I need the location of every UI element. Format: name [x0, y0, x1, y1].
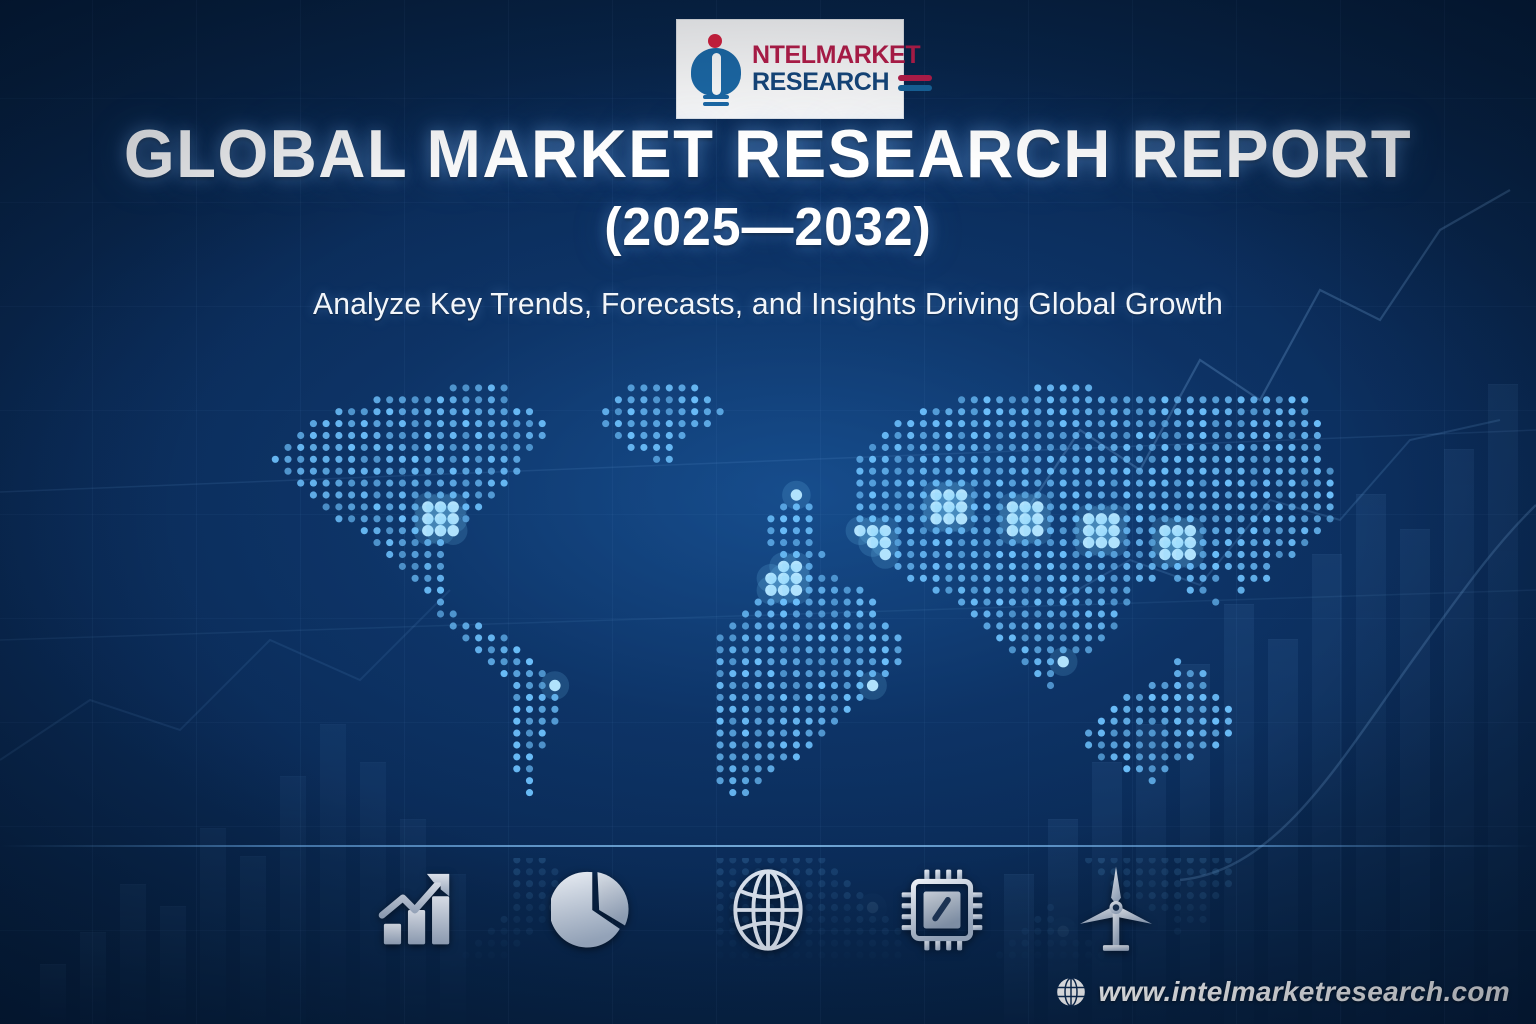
website-url[interactable]: www.intelmarketresearch.com [1098, 976, 1510, 1008]
logo-line-2: RESEARCH [752, 70, 889, 96]
globe-icon [1056, 977, 1086, 1007]
pie-chart-icon [549, 862, 639, 957]
tagline: Analyze Key Trends, Forecasts, and Insig… [23, 286, 1513, 322]
lightbulb-icon [689, 32, 745, 106]
growth-chart-icon [375, 862, 465, 957]
feature-icon-row [0, 862, 1536, 957]
wind-turbine-icon [1071, 862, 1161, 957]
microchip-icon [897, 862, 987, 957]
logo-accent-bars [898, 73, 932, 91]
company-logo[interactable]: NTELMARKET RESEARCH [676, 19, 904, 119]
globe-icon [723, 862, 813, 957]
logo-wordmark: NTELMARKET RESEARCH [752, 43, 932, 95]
report-cover: NTELMARKET RESEARCH GLOBAL MARKET RESEAR… [0, 0, 1536, 1024]
headline-block: GLOBAL MARKET RESEARCH REPORT (2025—2032… [0, 118, 1536, 322]
horizon-line [0, 845, 1536, 847]
footer-website[interactable]: www.intelmarketresearch.com [1056, 976, 1510, 1008]
logo-line-1: NTELMARKET [752, 43, 932, 69]
page-title: GLOBAL MARKET RESEARCH REPORT [31, 118, 1506, 190]
forecast-period: (2025—2032) [31, 196, 1506, 258]
dotted-world-map [0, 330, 1536, 890]
